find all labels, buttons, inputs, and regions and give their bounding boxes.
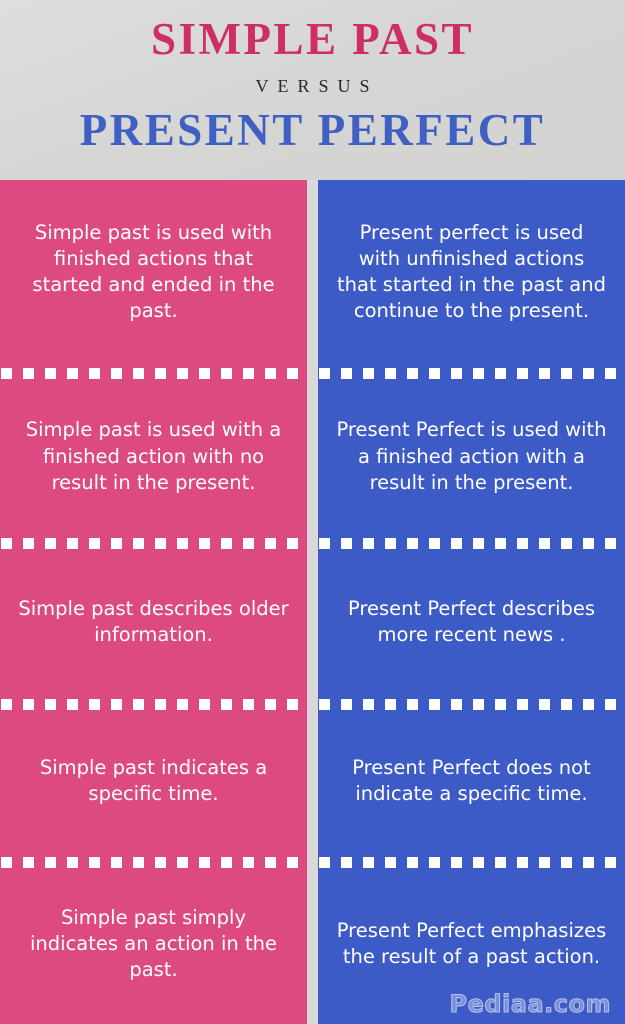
page-title-simple-past: SIMPLE PAST [151, 17, 474, 62]
cell-text: Simple past is used with finished action… [18, 220, 289, 325]
cell-text: Simple past is used with a finished acti… [18, 417, 289, 495]
cell-text: Present Perfect does not indicate a spec… [336, 755, 607, 807]
cell-text: Simple past indicates a specific time. [18, 755, 289, 807]
table-row: Present Perfect emphasizes the result of… [318, 868, 625, 1024]
cell-text: Present Perfect is used with a finished … [336, 417, 607, 495]
page-title-present-perfect: PRESENT PERFECT [80, 108, 546, 153]
cell-text: Present Perfect emphasizes the result of… [336, 918, 607, 970]
row-separator [318, 857, 625, 868]
table-row: Simple past is used with a finished acti… [0, 379, 307, 537]
row-separator [318, 699, 625, 710]
row-separator [0, 368, 307, 379]
table-row: Present Perfect does not indicate a spec… [318, 710, 625, 857]
comparison-table: Simple past is used with finished action… [0, 180, 625, 1024]
row-separator [318, 368, 625, 379]
cell-text: Present perfect is used with unfinished … [336, 220, 607, 325]
cell-text: Present Perfect describes more recent ne… [336, 596, 607, 648]
table-row: Present perfect is used with unfinished … [318, 180, 625, 368]
table-row: Simple past is used with finished action… [0, 180, 307, 368]
column-gap-divider [307, 180, 318, 1024]
row-separator [0, 699, 307, 710]
table-row: Simple past indicates a specific time. [0, 710, 307, 857]
table-row: Present Perfect describes more recent ne… [318, 549, 625, 699]
header: SIMPLE PAST VERSUS PRESENT PERFECT [0, 0, 625, 180]
column-simple-past: Simple past is used with finished action… [0, 180, 307, 1024]
row-separator [0, 538, 307, 549]
cell-text: Simple past simply indicates an action i… [18, 905, 289, 983]
page-title-versus: VERSUS [246, 76, 378, 97]
cell-text: Simple past describes older information. [18, 596, 289, 648]
table-row: Simple past describes older information. [0, 549, 307, 699]
row-separator [0, 857, 307, 868]
table-row: Simple past simply indicates an action i… [0, 868, 307, 1024]
column-present-perfect: Present perfect is used with unfinished … [318, 180, 625, 1024]
infographic-root: SIMPLE PAST VERSUS PRESENT PERFECT Simpl… [0, 0, 625, 1024]
table-row: Present Perfect is used with a finished … [318, 379, 625, 537]
row-separator [318, 538, 625, 549]
